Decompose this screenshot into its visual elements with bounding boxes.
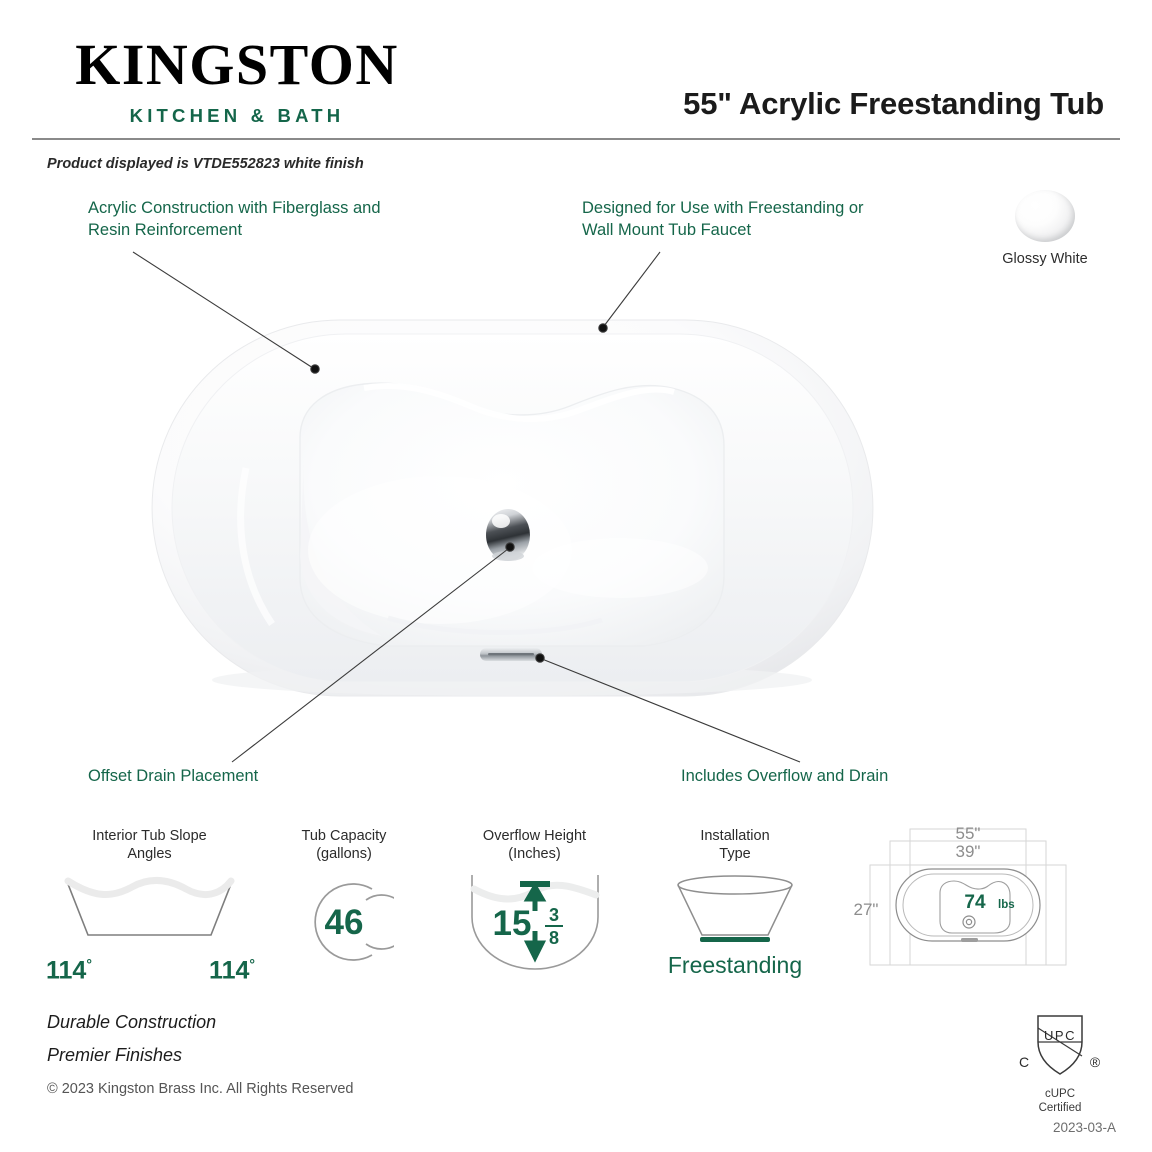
cupc-right-mark: ®: [1090, 1054, 1101, 1070]
dimension-interior-width: 39": [956, 842, 981, 861]
slope-angle-values: 114° 114°: [42, 956, 257, 986]
callout-faucet-compatibility: Designed for Use with Freestanding or Wa…: [582, 198, 962, 242]
finish-note: Product displayed is VTDE552823 white fi…: [47, 156, 364, 172]
cupc-shield-text: UPC: [1044, 1028, 1076, 1043]
capacity-rings-icon: 46: [294, 871, 394, 973]
overflow-height-icon: 15 3 8: [460, 869, 610, 971]
spec-tub-capacity: Tub Capacity (gallons) 46: [268, 828, 420, 978]
tagline-premier-finishes: Premier Finishes: [47, 1039, 216, 1072]
overflow-plate-graphic: [480, 648, 542, 661]
glossy-white-swatch-icon: [1015, 190, 1075, 242]
page-title: 55" Acrylic Freestanding Tub: [683, 86, 1104, 122]
capacity-value: 46: [325, 903, 364, 942]
spec-capacity-title: Tub Capacity (gallons): [268, 828, 420, 863]
cupc-certification-badge: UPC C ® cUPC Certified: [1014, 1012, 1106, 1116]
slope-angle-right: 114°: [209, 956, 255, 985]
spec-installation-type: Installation Type Freestanding: [640, 828, 830, 979]
copyright-text: © 2023 Kingston Brass Inc. All Rights Re…: [47, 1081, 353, 1097]
tagline-durable-construction: Durable Construction: [47, 1006, 216, 1039]
brand-tagline: KITCHEN & BATH: [47, 105, 427, 127]
spec-installation-title: Installation Type: [640, 828, 830, 863]
dimension-width: 55": [956, 824, 981, 843]
slope-angle-left: 114°: [46, 956, 92, 985]
page-header: KINGSTON KITCHEN & BATH 55" Acrylic Free…: [0, 0, 1152, 140]
callout-offset-drain: Offset Drain Placement: [88, 766, 418, 788]
cupc-caption: cUPC Certified: [1014, 1088, 1106, 1116]
finish-swatch: Glossy White: [985, 190, 1105, 267]
dimension-depth: 27": [854, 900, 879, 919]
overflow-numerator: 3: [548, 905, 558, 925]
weight-unit: lbs: [998, 899, 1015, 911]
slope-profile-icon: [52, 869, 247, 947]
footer-taglines: Durable Construction Premier Finishes: [47, 1006, 216, 1073]
cupc-shield-icon: UPC C ®: [1014, 1012, 1106, 1082]
dimension-diagram: 74 lbs 55" 39" 27": [848, 823, 1088, 973]
cupc-left-mark: C: [1019, 1054, 1029, 1070]
spec-overflow-title: Overflow Height (Inches): [452, 828, 617, 863]
installation-type-value: Freestanding: [640, 952, 830, 979]
finish-swatch-label: Glossy White: [985, 251, 1105, 267]
spec-slope-angles: Interior Tub Slope Angles 114° 114°: [42, 828, 257, 986]
specification-row: Interior Tub Slope Angles 114° 114° Tub …: [0, 828, 1152, 973]
overflow-denominator: 8: [548, 928, 558, 948]
tub-product-image: [150, 318, 875, 698]
spec-sheet: KINGSTON KITCHEN & BATH 55" Acrylic Free…: [0, 0, 1152, 1152]
overflow-whole: 15: [492, 904, 531, 943]
installation-tub-icon: [660, 871, 810, 945]
callout-overflow-drain: Includes Overflow and Drain: [681, 766, 1011, 788]
document-datecode: 2023-03-A: [1053, 1120, 1116, 1135]
brand-name: KINGSTON: [47, 36, 427, 94]
drain-stopper-graphic: [486, 509, 530, 561]
spec-overflow-height: Overflow Height (Inches) 15 3 8: [452, 828, 617, 976]
callout-acrylic-construction: Acrylic Construction with Fiberglass and…: [88, 198, 488, 242]
header-divider: [32, 138, 1120, 140]
weight-value: 74: [964, 892, 986, 913]
brand-logo: KINGSTON KITCHEN & BATH: [47, 36, 427, 127]
spec-dimensions: 74 lbs 55" 39" 27": [848, 823, 1088, 978]
spec-slope-title: Interior Tub Slope Angles: [42, 828, 257, 863]
